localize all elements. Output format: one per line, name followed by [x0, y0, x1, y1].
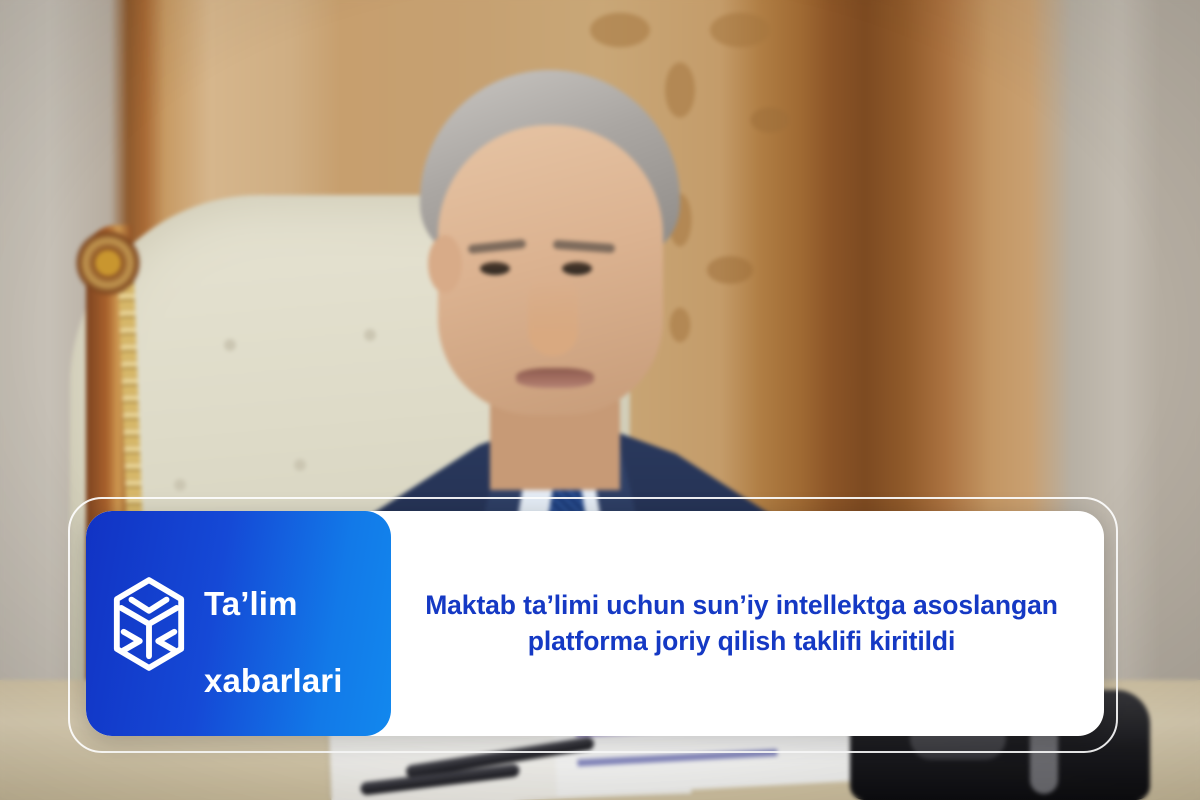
- brand-tile[interactable]: Ta’lim xabarlari: [86, 511, 391, 736]
- headline-line-1: Maktab ta’limi uchun sun’iy intellektga …: [425, 588, 1058, 624]
- brand-name: Ta’lim xabarlari: [204, 547, 343, 700]
- news-overlay-card: Ta’lim xabarlari Maktab ta’limi uchun su…: [86, 511, 1104, 736]
- headline: Maktab ta’limi uchun sun’iy intellektga …: [425, 588, 1058, 659]
- news-card-screenshot: Ta’lim xabarlari Maktab ta’limi uchun su…: [0, 0, 1200, 800]
- hexagon-cube-logo-icon: [110, 576, 188, 672]
- headline-line-2: platforma joriy qilish taklifi kiritildi: [425, 624, 1058, 660]
- brand-name-line2: xabarlari: [204, 662, 343, 699]
- brand-name-line1: Ta’lim: [204, 585, 298, 622]
- headline-area: Maktab ta’limi uchun sun’iy intellektga …: [391, 511, 1104, 736]
